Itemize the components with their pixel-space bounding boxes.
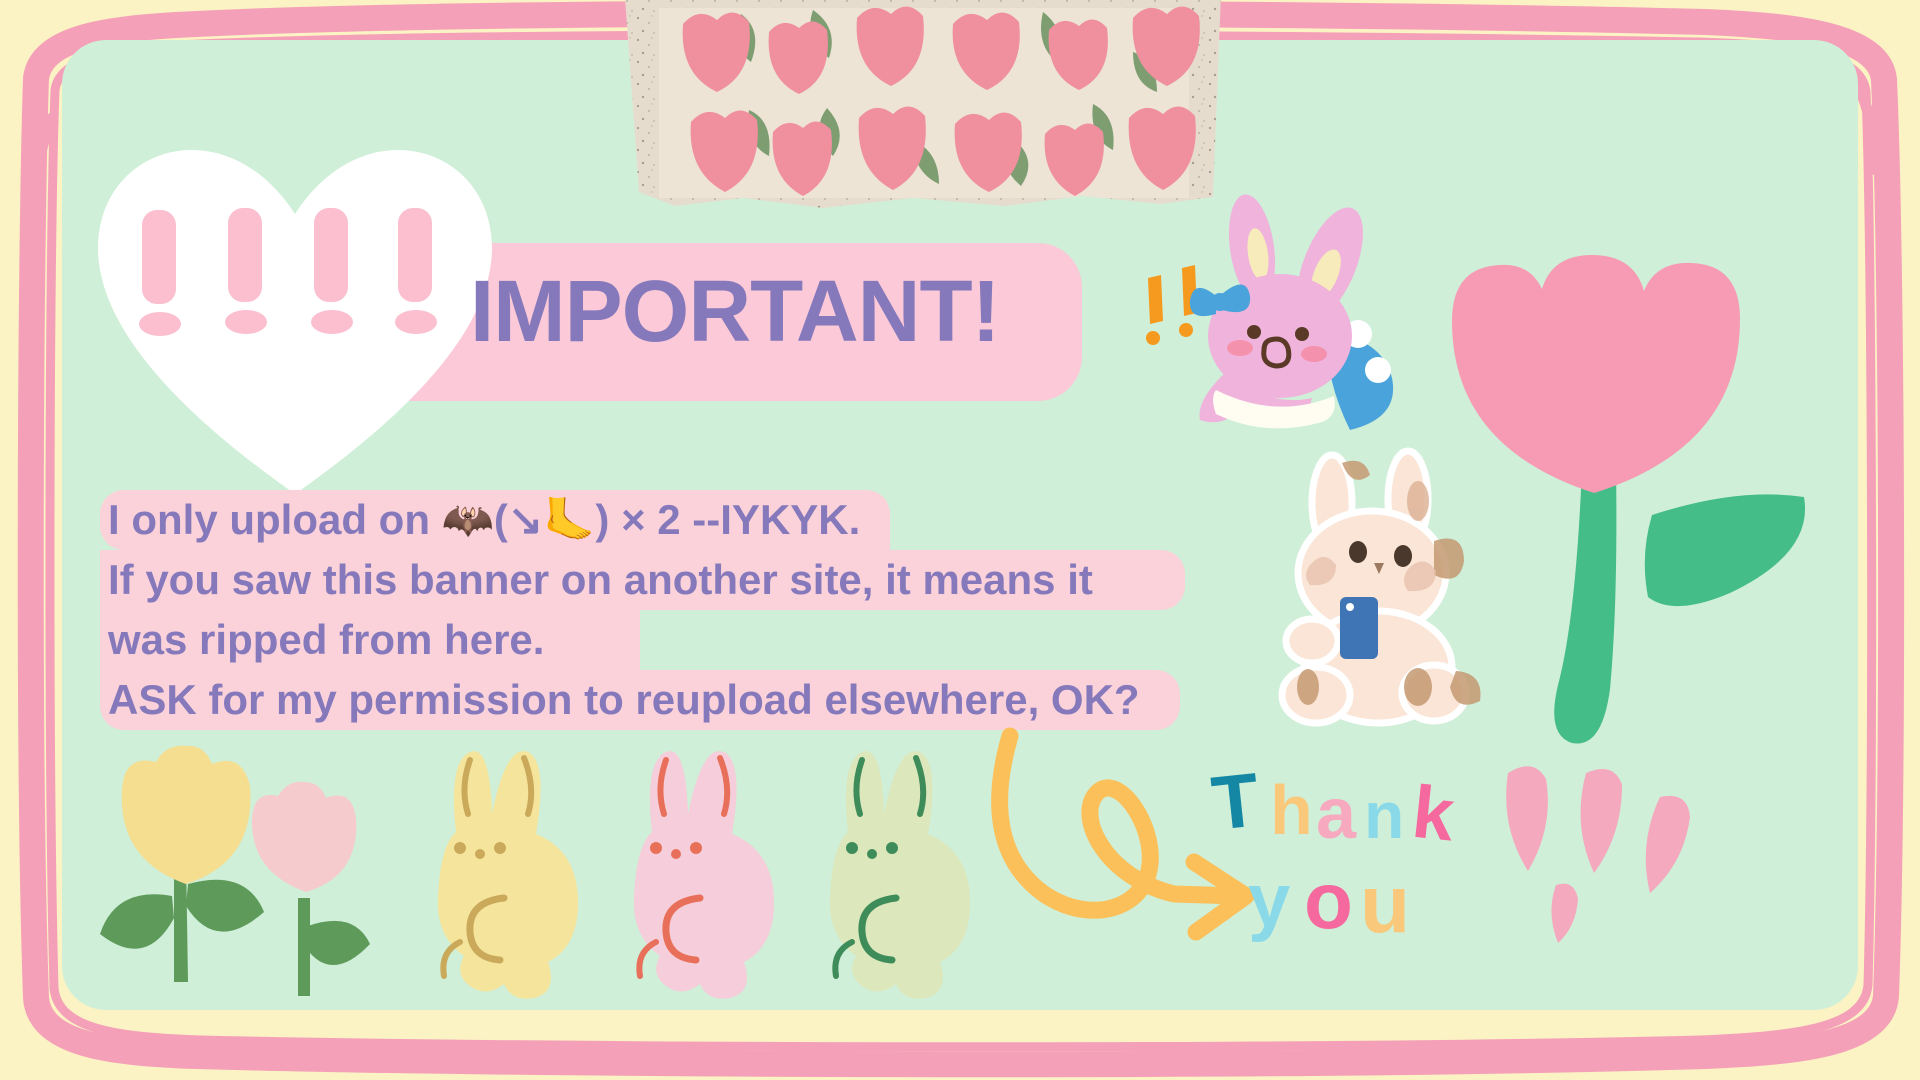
tulip-stem bbox=[1554, 467, 1616, 744]
letter-y: y bbox=[1248, 858, 1290, 943]
notice-text-block: I only upload on 🦇(↘🦶) × 2 --IYKYK. If y… bbox=[100, 490, 1140, 730]
phone-icon bbox=[1340, 597, 1378, 659]
tulip-leaf bbox=[1645, 494, 1805, 606]
green-gummy-bunny bbox=[830, 751, 970, 999]
notice-line-text: ASK for my permission to reupload elsewh… bbox=[100, 670, 1140, 730]
notice-line: ASK for my permission to reupload elsewh… bbox=[100, 670, 1140, 730]
phone-bunny-illustration bbox=[1268, 455, 1498, 730]
notice-line-text: was ripped from here. bbox=[100, 610, 1140, 670]
page-title: IMPORTANT! bbox=[470, 262, 1000, 362]
fallen-petals bbox=[1506, 766, 1690, 943]
heart-icon bbox=[98, 148, 492, 494]
letter-o: o bbox=[1304, 856, 1353, 945]
gummy-bunnies-svg bbox=[398, 740, 968, 995]
thank-you-svg: T h a n k y o u bbox=[1212, 758, 1512, 958]
notice-line-text: I only upload on 🦇(↘🦶) × 2 --IYKYK. bbox=[100, 490, 1140, 550]
letter-h: h bbox=[1270, 771, 1313, 849]
notice-line: I only upload on 🦇(↘🦶) × 2 --IYKYK. bbox=[100, 490, 1140, 550]
bunny-arm-left bbox=[1286, 619, 1338, 663]
washi-tape-svg bbox=[613, 0, 1233, 217]
letter-T: T bbox=[1208, 757, 1263, 846]
letter-a: a bbox=[1316, 774, 1357, 854]
yellow-gummy-bunny bbox=[438, 751, 578, 999]
gummy-bunnies-row bbox=[398, 740, 968, 995]
bunny-eye-left bbox=[1247, 325, 1261, 339]
pink-tulip bbox=[252, 782, 370, 996]
phone-bunny-svg bbox=[1268, 455, 1498, 730]
notice-line-text: If you saw this banner on another site, … bbox=[100, 550, 1140, 610]
thank-you-lettering: T h a n k y o u bbox=[1212, 758, 1512, 958]
bunny-eye-right bbox=[1394, 545, 1412, 567]
notice-line: was ripped from here. bbox=[100, 610, 1140, 670]
small-tulips-svg bbox=[92, 748, 382, 998]
exclamation-marks-icon bbox=[1146, 265, 1197, 345]
letter-k: k bbox=[1409, 770, 1459, 857]
letter-u: u bbox=[1360, 859, 1410, 950]
yellow-tulip bbox=[100, 746, 264, 982]
washi-tape bbox=[613, 0, 1233, 217]
letter-n: n bbox=[1364, 778, 1404, 852]
bunny-eye-left bbox=[1349, 541, 1367, 563]
notice-line: If you saw this banner on another site, … bbox=[100, 550, 1140, 610]
pink-gummy-bunny bbox=[634, 751, 774, 999]
bunny-eye-right bbox=[1295, 327, 1309, 341]
small-tulips-illustration bbox=[92, 748, 382, 998]
heart-badge bbox=[98, 148, 492, 494]
